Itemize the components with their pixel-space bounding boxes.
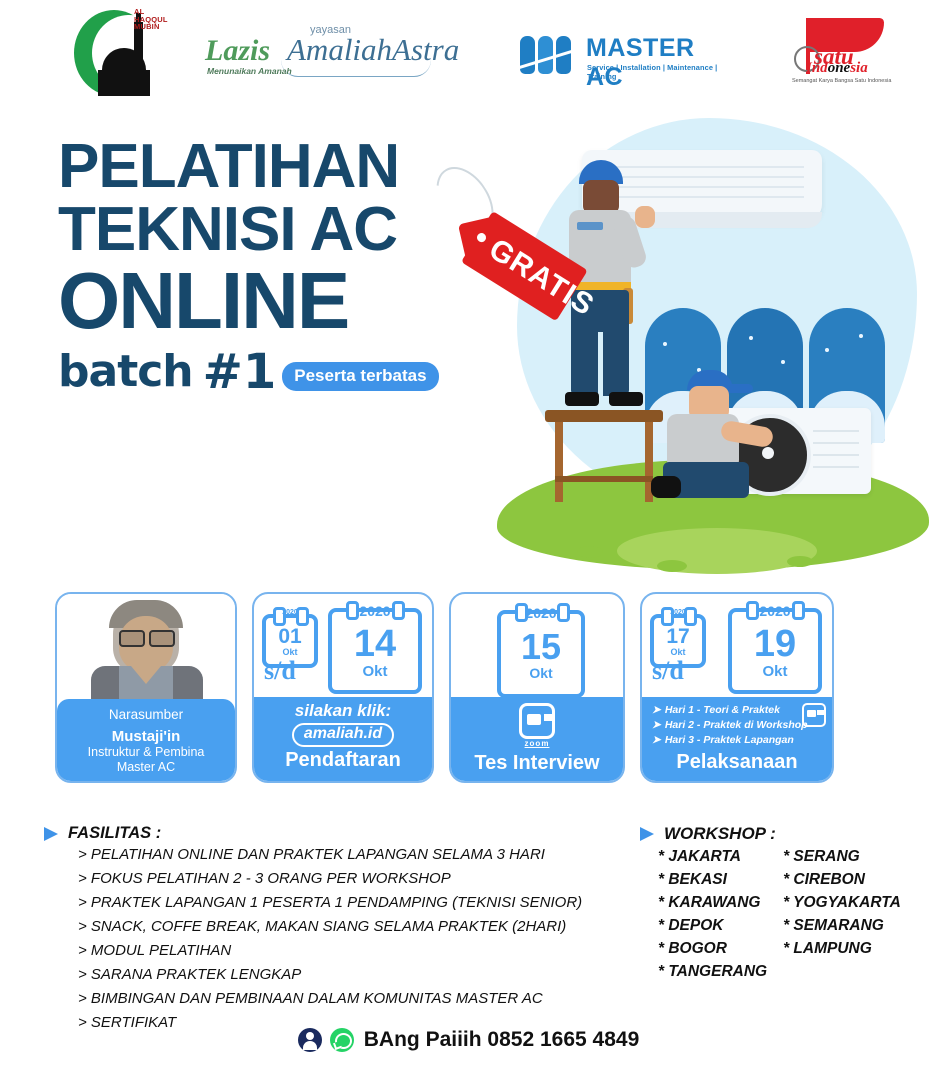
list-item: * BEKASI [658,868,767,891]
list-item: > PELATIHAN ONLINE DAN PRAKTEK LAPANGAN … [78,843,644,867]
narasumber-role-1: Instruktur & Pembina [57,745,235,760]
narasumber-label: Narasumber [57,699,235,722]
cal3-year: 2020 [501,605,581,621]
workshop-heading: WORKSHOP : [664,824,776,844]
cal4-end-month: Okt [732,664,818,679]
calendar-exec-end-icon: 2020 19 Okt [728,608,822,694]
list-item: * TANGERANG [658,960,767,983]
al-haqqul-mubin-logo: AL HAQQUL MUBIN [72,4,192,102]
indo-part-a: Ind [806,60,828,76]
indo-part-b: one [828,60,851,76]
card-pelaksanaan[interactable]: 2020 17 Okt s/d 2020 19 Okt ➤Hari 1 - Te… [640,592,834,783]
minaret-icon [134,22,143,94]
master-ac-mark-icon [520,36,578,76]
cal2-start-year: 2020 [266,609,314,616]
card-pendaftaran[interactable]: 2020 01 Okt s/d 2020 14 Okt silakan klik… [252,592,434,783]
cal3-month: Okt [501,666,581,680]
whatsapp-icon[interactable] [330,1028,354,1052]
card4-dates: 2020 17 Okt s/d 2020 19 Okt [642,594,832,702]
info-card-row: Narasumber Mustaji'in Instruktur & Pembi… [55,592,885,782]
card2-caption: silakan klik: amaliah.id Pendaftaran [254,697,432,781]
contact-footer: BAng Paiiih 0852 1665 4849 [0,1028,937,1052]
indo-part-c: sia [850,60,868,76]
logo2-swoosh [281,60,431,77]
list-item: * SEMARANG [783,914,901,937]
cal2-end-month: Okt [332,664,418,679]
workshop-column-2: * SERANG * CIREBON * YOGYAKARTA * SEMARA… [783,845,901,983]
card4-caption: ➤Hari 1 - Teori & Praktek ➤Hari 2 - Prak… [642,697,832,781]
grass-dot-2 [657,560,687,572]
zoom-platform-label: zoom [451,739,623,748]
list-item: * DEPOK [658,914,767,937]
day-2-label: Hari 2 - Praktek di Workshop [665,719,808,731]
workshop-section: WORKSHOP : * JAKARTA * BEKASI * KARAWANG… [640,824,937,983]
master-ac-tagline: Service | Installation | Maintenance | T… [587,63,730,81]
tes-interview-title: Tes Interview [451,748,623,775]
registration-url[interactable]: amaliah.id [292,723,394,747]
person-icon [298,1028,322,1052]
list-item: ➤Hari 3 - Praktek Lapangan [652,733,832,748]
list-item: * LAMPUNG [783,937,901,960]
indonesia-text: Indonesia [806,60,868,77]
zoom-camera-icon [519,703,555,739]
limited-seats-badge: Peserta terbatas [282,362,438,391]
headline-block: PELATIHAN TEKNISI AC ONLINE batch #1 Pes… [58,136,439,400]
day-3-label: Hari 3 - Praktek Lapangan [665,734,794,746]
card1-photo-area [57,594,235,702]
headline-line-3: ONLINE [58,262,439,340]
arrow-right-icon [44,827,58,841]
batch-word: batch [58,350,193,394]
grass-dot-1 [577,546,603,558]
logo1-line3: MUBIN [134,23,168,31]
batch-row: batch #1 Peserta terbatas [58,344,439,400]
list-item: * KARAWANG [658,891,767,914]
pendaftaran-title: Pendaftaran [254,747,432,772]
narasumber-name: Mustaji'in [57,722,235,745]
fasilitas-heading: FASILITAS : [68,824,161,843]
cal2-end-year: 2020 [332,603,418,619]
day-1-label: Hari 1 - Teori & Praktek [665,704,780,716]
list-item: * CIREBON [783,868,901,891]
calendar-end-icon: 2020 14 Okt [328,608,422,694]
cal4-end-year: 2020 [732,603,818,619]
batch-number: #1 [203,344,277,400]
card-tes-interview[interactable]: 2020 15 Okt zoom Tes Interview [449,592,625,783]
list-item: > PRAKTEK LAPANGAN 1 PESERTA 1 PENDAMPIN… [78,891,644,915]
headline-line-1: PELATIHAN [58,136,439,198]
list-item: > BIMBINGAN DAN PEMBINAAN DALAM KOMUNITA… [78,987,644,1011]
calendar-interview-icon: 2020 15 Okt [497,610,585,698]
list-item: > SARANA PRAKTEK LENGKAP [78,963,644,987]
list-item: > SNACK, COFFE BREAK, MAKAN SIANG SELAMA… [78,915,644,939]
poster-root: AL HAQQUL MUBIN yayasan Lazis AmaliahAst… [0,0,937,1080]
fasilitas-heading-row: FASILITAS : [44,824,644,843]
click-hint: silakan klik: [254,697,432,721]
card2-dates: 2020 01 Okt s/d 2020 14 Okt [254,594,432,702]
list-item: > FOKUS PELATIHAN 2 - 3 ORANG PER WORKSH… [78,867,644,891]
logo2-lazis: Lazis [205,34,270,68]
cal2-end-day: 14 [332,612,418,664]
logo2-tagline: Menunaikan Amanah [207,66,292,76]
date-separator: s/d [652,656,684,686]
grass-highlight [617,528,817,574]
card3-caption: zoom Tes Interview [451,697,623,781]
list-item: > MODUL PELATIHAN [78,939,644,963]
grass-dot-3 [787,556,813,567]
satu-indonesia-tagline: Semangat Karya Bangsa Satu Indonesia [792,78,891,84]
workshop-heading-row: WORKSHOP : [640,824,937,844]
list-item: * BOGOR [658,937,767,960]
lazis-amaliah-astra-logo: yayasan Lazis AmaliahAstra Menunaikan Am… [205,24,445,82]
technician-illustration [497,108,937,578]
logo-bar: AL HAQQUL MUBIN yayasan Lazis AmaliahAst… [0,0,937,105]
workshop-column-1: * JAKARTA * BEKASI * KARAWANG * DEPOK * … [658,845,767,983]
technician-kneeling [659,370,785,498]
card1-caption: Narasumber Mustaji'in Instruktur & Pembi… [57,699,235,781]
pelaksanaan-title: Pelaksanaan [642,748,832,774]
card-narasumber[interactable]: Narasumber Mustaji'in Instruktur & Pembi… [55,592,237,783]
cal4-start-year: 2020 [654,609,702,616]
fasilitas-section: FASILITAS : > PELATIHAN ONLINE DAN PRAKT… [44,824,644,1035]
master-ac-logo: MASTER AC Service | Installation | Maint… [520,34,730,82]
narasumber-role-2: Master AC [57,760,235,775]
wooden-table [545,410,663,502]
satu-indonesia-logo: satu Indonesia Semangat Karya Bangsa Sat… [788,18,892,90]
date-separator: s/d [264,656,296,686]
glasses-icon [119,630,173,643]
list-item: * YOGYAKARTA [783,891,901,914]
workshop-columns: * JAKARTA * BEKASI * KARAWANG * DEPOK * … [658,845,937,983]
list-item: * JAKARTA [658,845,767,868]
avatar [75,600,217,704]
card3-date: 2020 15 Okt [451,594,623,702]
arrow-right-icon [640,827,654,841]
al-haqqul-mubin-text: AL HAQQUL MUBIN [134,8,168,31]
list-item: * SERANG [783,845,901,868]
headline-line-2: TEKNISI AC [58,198,439,262]
cal4-end-day: 19 [732,612,818,664]
cal3-day: 15 [501,614,581,666]
contact-text: BAng Paiiih 0852 1665 4849 [364,1028,640,1052]
zoom-camera-icon-small [802,703,826,727]
